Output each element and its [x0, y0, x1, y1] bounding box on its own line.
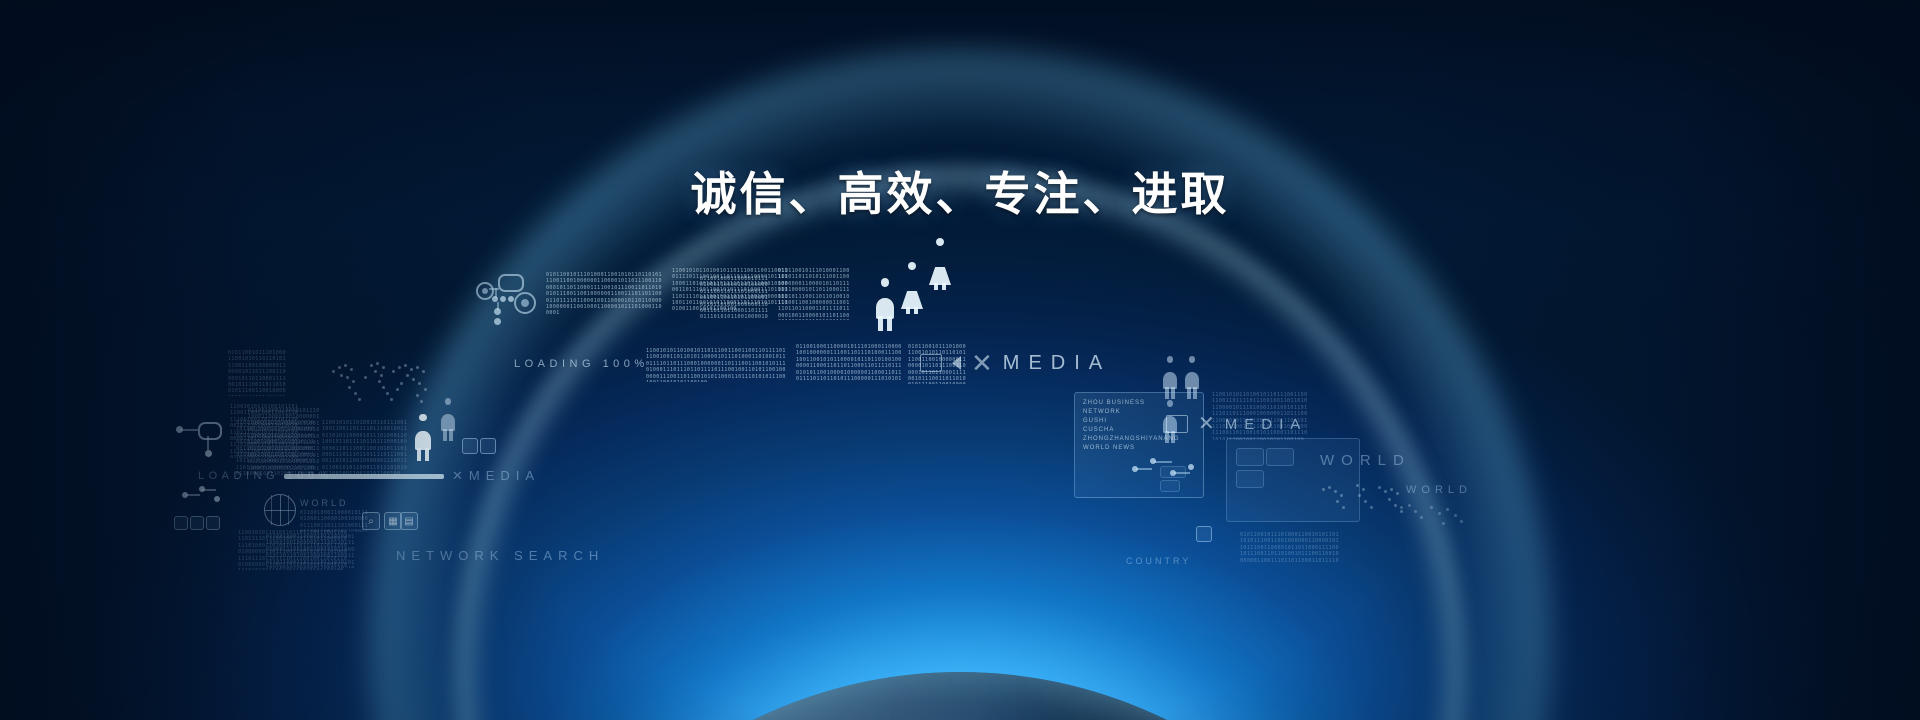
hero-banner: 0101100101110100011001010110110101110011… [0, 0, 1920, 720]
page-title: 诚信、高效、专注、进取 [0, 158, 1920, 224]
edge-fade-overlay [0, 0, 1920, 720]
